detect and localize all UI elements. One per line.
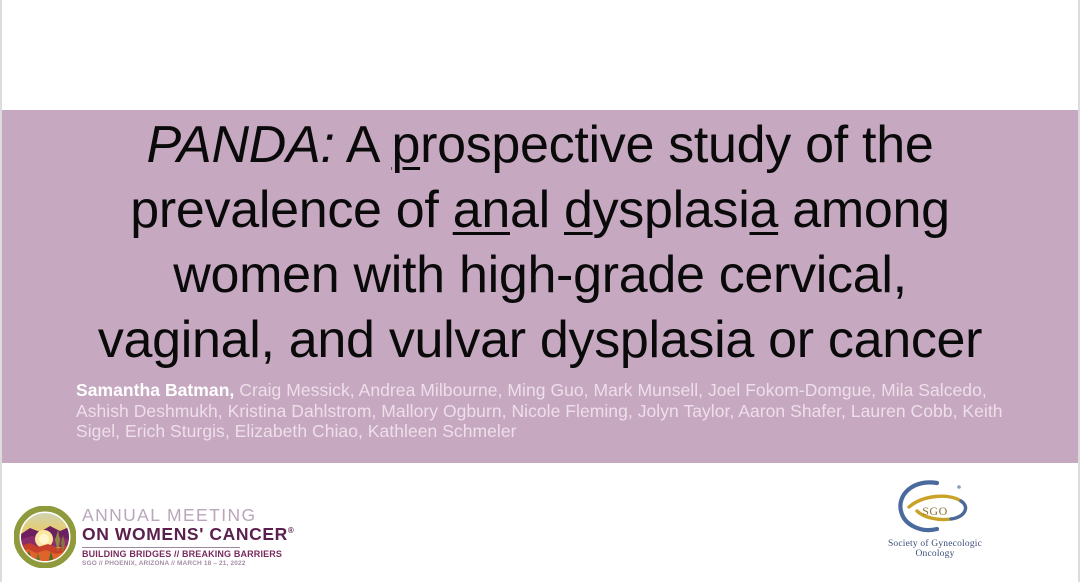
annual-meeting-wordmark: ANNUAL MEETING ON WOMENS' CANCER® BUILDI… xyxy=(82,507,294,568)
title-line-2-part-d: among xyxy=(778,181,950,239)
title-line-1: PANDA: A prospective study of the xyxy=(30,113,1050,178)
title-line-2-part-a: prevalence of xyxy=(130,181,452,239)
am-tagline: BUILDING BRIDGES // BREAKING BARRIERS xyxy=(82,550,294,559)
slide-footer: ANNUAL MEETING ON WOMENS' CANCER® BUILDI… xyxy=(2,463,1078,582)
title-line-3: women with high-grade cervical, xyxy=(30,243,1050,308)
title-line-2-part-b: al xyxy=(510,181,564,239)
registered-mark-icon: ® xyxy=(288,526,295,535)
svg-text:SGO: SGO xyxy=(922,504,948,518)
annual-meeting-logo: ANNUAL MEETING ON WOMENS' CANCER® BUILDI… xyxy=(14,506,294,568)
title-line-2-part-c: ysplasi xyxy=(593,181,750,239)
am-meeting-details: SGO // PHOENIX, ARIZONA // MARCH 18 – 21… xyxy=(82,561,294,568)
title-underline-a: a xyxy=(749,181,778,239)
presenting-author: Samantha Batman, xyxy=(76,380,234,400)
title-line-2: prevalence of anal dysplasia among xyxy=(30,178,1050,243)
sgo-logo: SGO Society of Gynecologic Oncology xyxy=(870,471,1000,559)
title-line-1-part-a: A xyxy=(334,116,391,174)
am-line-annual-meeting: ANNUAL MEETING xyxy=(82,507,294,525)
title-slide: PANDA: A prospective study of the preval… xyxy=(0,0,1080,582)
title-line-1-part-b: rospective study of the xyxy=(420,116,933,174)
page-title: PANDA: A prospective study of the preval… xyxy=(2,113,1078,373)
author-list: Samantha Batman, Craig Messick, Andrea M… xyxy=(76,380,1004,442)
divider xyxy=(82,547,240,548)
study-acronym: PANDA: xyxy=(147,116,335,174)
am-line-on-womens-cancer: ON WOMENS' CANCER® xyxy=(82,526,294,544)
title-underline-p: p xyxy=(391,116,420,174)
sunset-canyon-circle-icon xyxy=(14,506,76,568)
title-underline-d: d xyxy=(564,181,593,239)
title-underline-an: an xyxy=(453,181,510,239)
sgo-swoosh-icon: SGO xyxy=(875,471,995,543)
am-line2-text: ON WOMENS' CANCER xyxy=(82,524,288,544)
title-line-4: vaginal, and vulvar dysplasia or cancer xyxy=(30,308,1050,373)
